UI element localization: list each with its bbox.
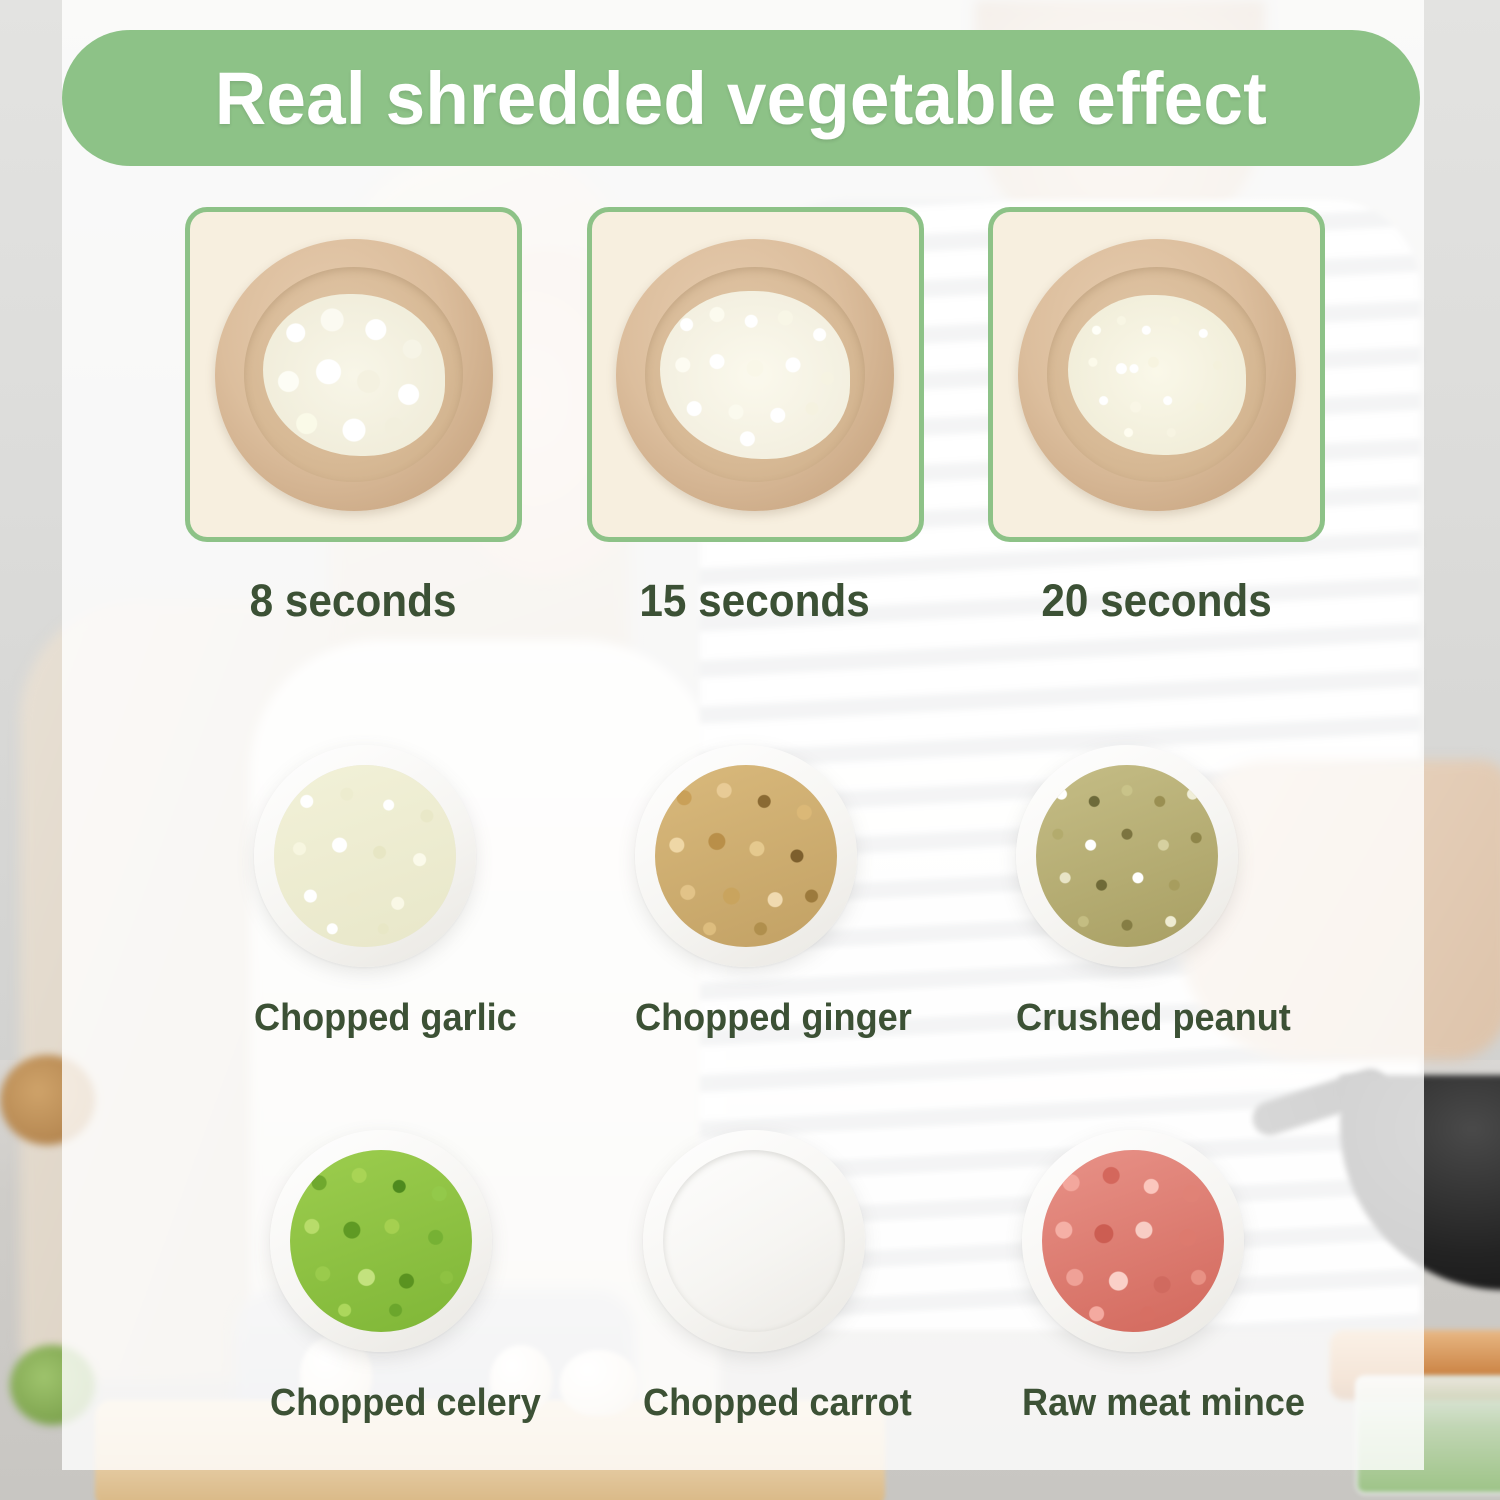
header-banner: Real shredded vegetable effect (62, 30, 1420, 166)
food-texture-carrot (663, 1150, 845, 1332)
timing-label-20-seconds: 20 seconds (1041, 575, 1271, 627)
bowl-raw-meat-mince (1022, 1130, 1244, 1352)
food-texture-ginger (655, 765, 837, 947)
infographic-content: Real shredded vegetable effect 8 seconds… (0, 0, 1500, 1500)
bowl-contents (1042, 1150, 1224, 1332)
bowl-chopped-ginger (635, 745, 857, 967)
food-texture-celery (290, 1150, 472, 1332)
label-chopped-garlic: Chopped garlic (254, 997, 577, 1040)
timing-cell-2: 15 seconds (587, 575, 924, 635)
food-sample-chopped-celery: Chopped celery (270, 1130, 610, 1425)
food-sample-chopped-garlic: Chopped garlic (254, 745, 594, 1040)
thumbnail-20-seconds (988, 207, 1325, 542)
bowl-contents (1036, 765, 1218, 947)
timing-cell-3: 20 seconds (988, 575, 1325, 635)
food-samples-grid: Chopped garlic Chopped ginger Crushed pe… (232, 745, 1312, 1445)
label-crushed-peanut: Crushed peanut (1016, 997, 1339, 1040)
speed-comparison-thumbnails (185, 207, 1325, 542)
food-texture-meat (1042, 1150, 1224, 1332)
label-chopped-celery: Chopped celery (270, 1382, 593, 1425)
page-title: Real shredded vegetable effect (215, 56, 1267, 141)
timing-label-15-seconds: 15 seconds (640, 575, 870, 627)
bowl-chopped-celery (270, 1130, 492, 1352)
label-raw-meat-mince: Raw meat mince (1022, 1382, 1345, 1425)
food-sample-chopped-ginger: Chopped ginger (635, 745, 975, 1040)
bowl-contents (655, 765, 837, 947)
label-chopped-ginger: Chopped ginger (635, 997, 958, 1040)
food-sample-crushed-peanut: Crushed peanut (1016, 745, 1356, 1040)
timing-captions: 8 seconds 15 seconds 20 seconds (185, 575, 1325, 635)
timing-label-8-seconds: 8 seconds (250, 575, 457, 627)
label-chopped-carrot: Chopped carrot (643, 1382, 966, 1425)
bowl-contents (290, 1150, 472, 1332)
thumbnail-8-seconds (185, 207, 522, 542)
bowl-crushed-peanut (1016, 745, 1238, 967)
food-sample-raw-meat-mince: Raw meat mince (1022, 1130, 1362, 1425)
thumbnail-15-seconds (587, 207, 924, 542)
bowl-contents (663, 1150, 845, 1332)
bowl-chopped-garlic (254, 745, 476, 967)
food-sample-chopped-carrot: Chopped carrot (643, 1130, 983, 1425)
bowl-contents (274, 765, 456, 947)
timing-cell-1: 8 seconds (185, 575, 522, 635)
food-texture-peanut (1036, 765, 1218, 947)
food-texture-garlic (274, 765, 456, 947)
bowl-chopped-carrot (643, 1130, 865, 1352)
